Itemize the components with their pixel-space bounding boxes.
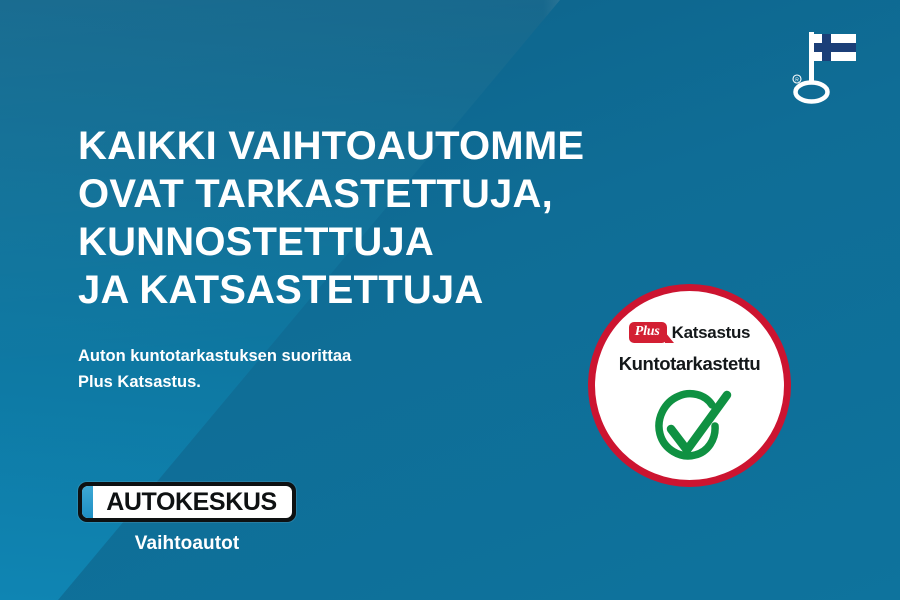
license-plate-blue-band [82, 486, 93, 518]
headline-line-3: KUNNOSTETTUJA [78, 218, 698, 266]
license-plate-inner: AUTOKESKUS [82, 486, 292, 518]
plus-bubble-mark: Plus [629, 322, 667, 343]
advertisement-banner: R KAIKKI VAIHTOAUTOMME OVAT TARKASTETTUJ… [0, 0, 900, 600]
headline-line-4: JA KATSASTETTUJA [78, 266, 698, 314]
autokeskus-wordmark: AUTOKESKUS [97, 490, 277, 515]
badge-title: Kuntotarkastettu [595, 353, 784, 375]
subtitle-line-2: Plus Katsastus. [78, 369, 498, 395]
autokeskus-logo: AUTOKESKUS Vaihtoautot [78, 482, 318, 555]
autokeskus-logo-subtitle: Vaihtoautot [78, 533, 296, 555]
headline-line-1: KAIKKI VAIHTOAUTOMME [78, 122, 698, 170]
headline: KAIKKI VAIHTOAUTOMME OVAT TARKASTETTUJA,… [78, 122, 698, 314]
subtitle: Auton kuntotarkastuksen suorittaa Plus K… [78, 343, 498, 395]
license-plate-frame: AUTOKESKUS [78, 482, 296, 522]
headline-line-2: OVAT TARKASTETTUJA, [78, 170, 698, 218]
avainlippu-key-flag-icon: R [785, 26, 859, 104]
kuntotarkastettu-badge: Plus Katsastus Kuntotarkastettu [588, 284, 791, 487]
subtitle-line-1: Auton kuntotarkastuksen suorittaa [78, 343, 498, 369]
plus-katsastus-logo: Plus Katsastus [595, 322, 784, 343]
green-check-circle-icon [642, 389, 738, 469]
katsastus-wordmark: Katsastus [672, 323, 751, 343]
svg-text:R: R [795, 78, 799, 84]
